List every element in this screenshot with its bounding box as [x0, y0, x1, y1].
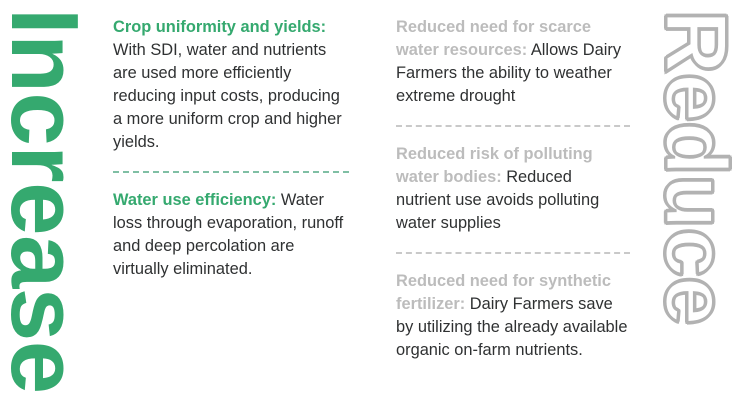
right-block-1-paragraph: Reduced need for scarce water resources:…: [396, 16, 630, 108]
left-block-2-paragraph: Water use efficiency: Water loss through…: [113, 189, 349, 281]
side-label-reduce-text: Reduce: [647, 10, 746, 325]
right-block-2: Reduced risk of polluting water bodies: …: [396, 143, 630, 235]
infographic-canvas: Increase Reduce Crop uniformity and yiel…: [0, 0, 750, 417]
left-block-1-lead: Crop uniformity and yields:: [113, 18, 326, 36]
right-block-3-paragraph: Reduced need for synthetic fertilizer: D…: [396, 270, 630, 362]
left-block-1: Crop uniformity and yields: With SDI, wa…: [113, 16, 349, 154]
left-block-1-body: With SDI, water and nutrients are used m…: [113, 41, 342, 151]
right-divider-1: [396, 125, 630, 127]
side-label-increase: Increase: [0, 8, 92, 394]
right-column: Reduced need for scarce water resources:…: [396, 16, 630, 362]
right-block-1: Reduced need for scarce water resources:…: [396, 16, 630, 108]
side-label-reduce: Reduce: [652, 10, 740, 325]
left-block-2: Water use efficiency: Water loss through…: [113, 189, 349, 281]
left-block-1-paragraph: Crop uniformity and yields: With SDI, wa…: [113, 16, 349, 154]
right-divider-2: [396, 252, 630, 254]
right-block-2-paragraph: Reduced risk of polluting water bodies: …: [396, 143, 630, 235]
left-block-2-lead: Water use efficiency:: [113, 191, 276, 209]
right-block-3: Reduced need for synthetic fertilizer: D…: [396, 270, 630, 362]
left-column: Crop uniformity and yields: With SDI, wa…: [113, 16, 349, 281]
left-divider-1: [113, 171, 349, 173]
